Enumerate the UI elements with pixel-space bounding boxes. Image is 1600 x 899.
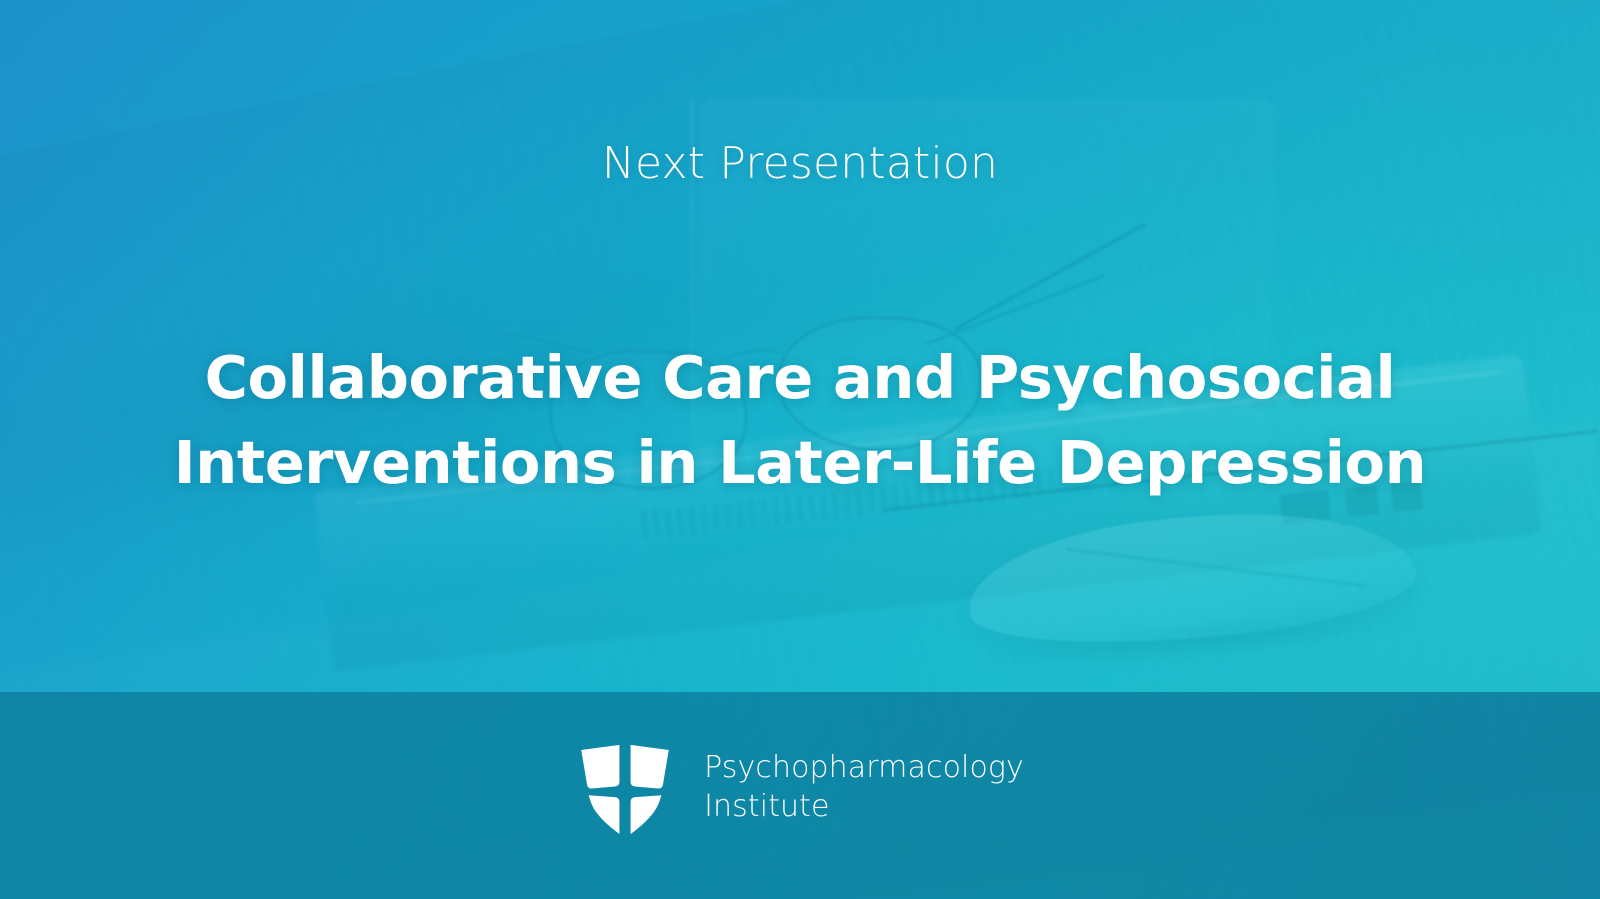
page-title-line-2: Interventions in Later-Life Depression xyxy=(96,421,1504,506)
shield-logo-icon xyxy=(576,738,674,838)
brand-name-line-2: Institute xyxy=(704,788,1024,826)
presentation-slide: Next Presentation Collaborative Care and… xyxy=(0,0,1600,899)
brand-name-line-1: Psychopharmacology xyxy=(704,749,1024,787)
page-title: Collaborative Care and Psychosocial Inte… xyxy=(96,336,1504,506)
footer-content: Psychopharmacology Institute xyxy=(0,692,1600,899)
kicker-label: Next Presentation xyxy=(0,138,1600,189)
page-title-line-1: Collaborative Care and Psychosocial xyxy=(96,336,1504,421)
brand-wordmark: Psychopharmacology Institute xyxy=(704,749,1024,826)
brand-logo: Psychopharmacology Institute xyxy=(576,738,1024,838)
